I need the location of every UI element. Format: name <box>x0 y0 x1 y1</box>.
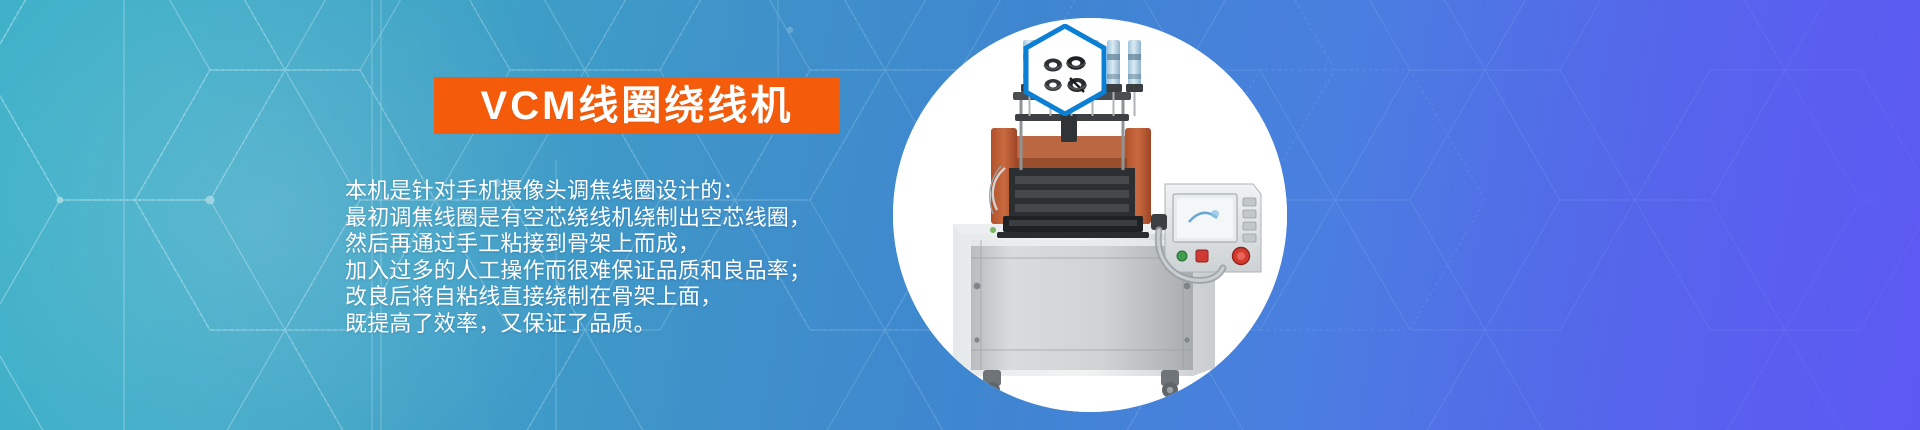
description-line-2: 最初调焦线圈是有空芯绕线机绕制出空芯线圈， <box>345 205 885 232</box>
banner-title-box: VCM线圈绕线机 <box>434 77 840 134</box>
description-line-6: 既提高了效率，又保证了品质。 <box>345 311 885 338</box>
description-line-5: 改良后将自粘线直接绕制在骨架上面， <box>345 284 885 311</box>
coil-sample-1 <box>1044 59 1062 72</box>
product-banner: VCM线圈绕线机 本机是针对手机摄像头调焦线圈设计的： 最初调焦线圈是有空芯绕线… <box>0 0 1920 430</box>
description-line-4: 加入过多的人工操作而很难保证品质和良品率； <box>345 258 885 285</box>
banner-description: 本机是针对手机摄像头调焦线圈设计的： 最初调焦线圈是有空芯绕线机绕制出空芯线圈，… <box>345 178 885 337</box>
coil-sample-2 <box>1067 56 1086 70</box>
description-line-3: 然后再通过手工粘接到骨架上而成， <box>345 231 885 258</box>
coil-sample-4 <box>1068 78 1087 92</box>
coil-sample-3 <box>1045 79 1062 91</box>
product-sample-hexagon-badge <box>1022 24 1108 116</box>
description-line-1: 本机是针对手机摄像头调焦线圈设计的： <box>345 178 885 205</box>
banner-title: VCM线圈绕线机 <box>481 86 794 126</box>
